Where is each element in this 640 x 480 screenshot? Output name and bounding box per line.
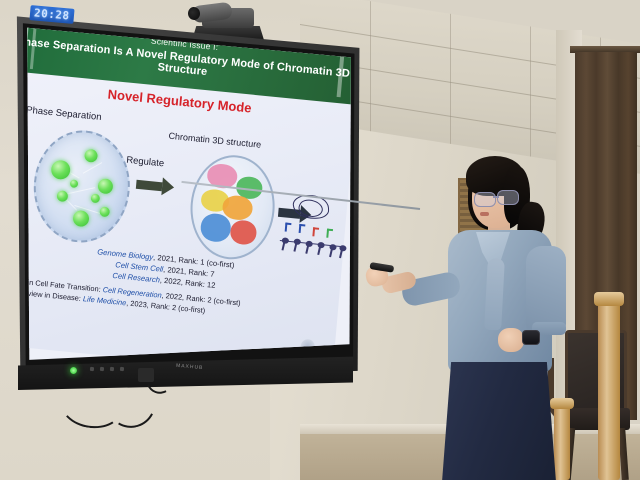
eyeglasses-right-lens xyxy=(497,190,519,205)
wooden-post xyxy=(598,300,620,480)
presentation-room-photo: Scientific Issue I: Phase Separation Is … xyxy=(0,0,640,480)
presenter xyxy=(400,150,580,480)
sleeve xyxy=(526,246,566,334)
resting-hand xyxy=(498,328,524,352)
phase-separation-cell-diagram xyxy=(29,126,134,247)
wristwatch xyxy=(522,330,540,345)
regulate-arrow-head xyxy=(161,177,175,196)
wooden-post-cap xyxy=(594,292,624,306)
label-regulate: Regulate xyxy=(126,154,165,169)
skirt xyxy=(442,362,556,480)
eyeglasses-left-lens xyxy=(474,192,496,207)
gene-nucleosome-diagram xyxy=(278,192,352,268)
label-phase-separation: Phase Separation xyxy=(26,104,102,122)
chromatin-3d-cell-diagram xyxy=(186,151,279,263)
eyeglasses-bridge xyxy=(493,196,499,198)
label-chromatin-3d: Chromatin 3D structure xyxy=(168,130,261,149)
interactive-display[interactable]: Scientific Issue I: Phase Separation Is … xyxy=(8,8,363,388)
regulate-arrow xyxy=(136,179,163,191)
display-screen[interactable]: Scientific Issue I: Phase Separation Is … xyxy=(8,8,363,388)
